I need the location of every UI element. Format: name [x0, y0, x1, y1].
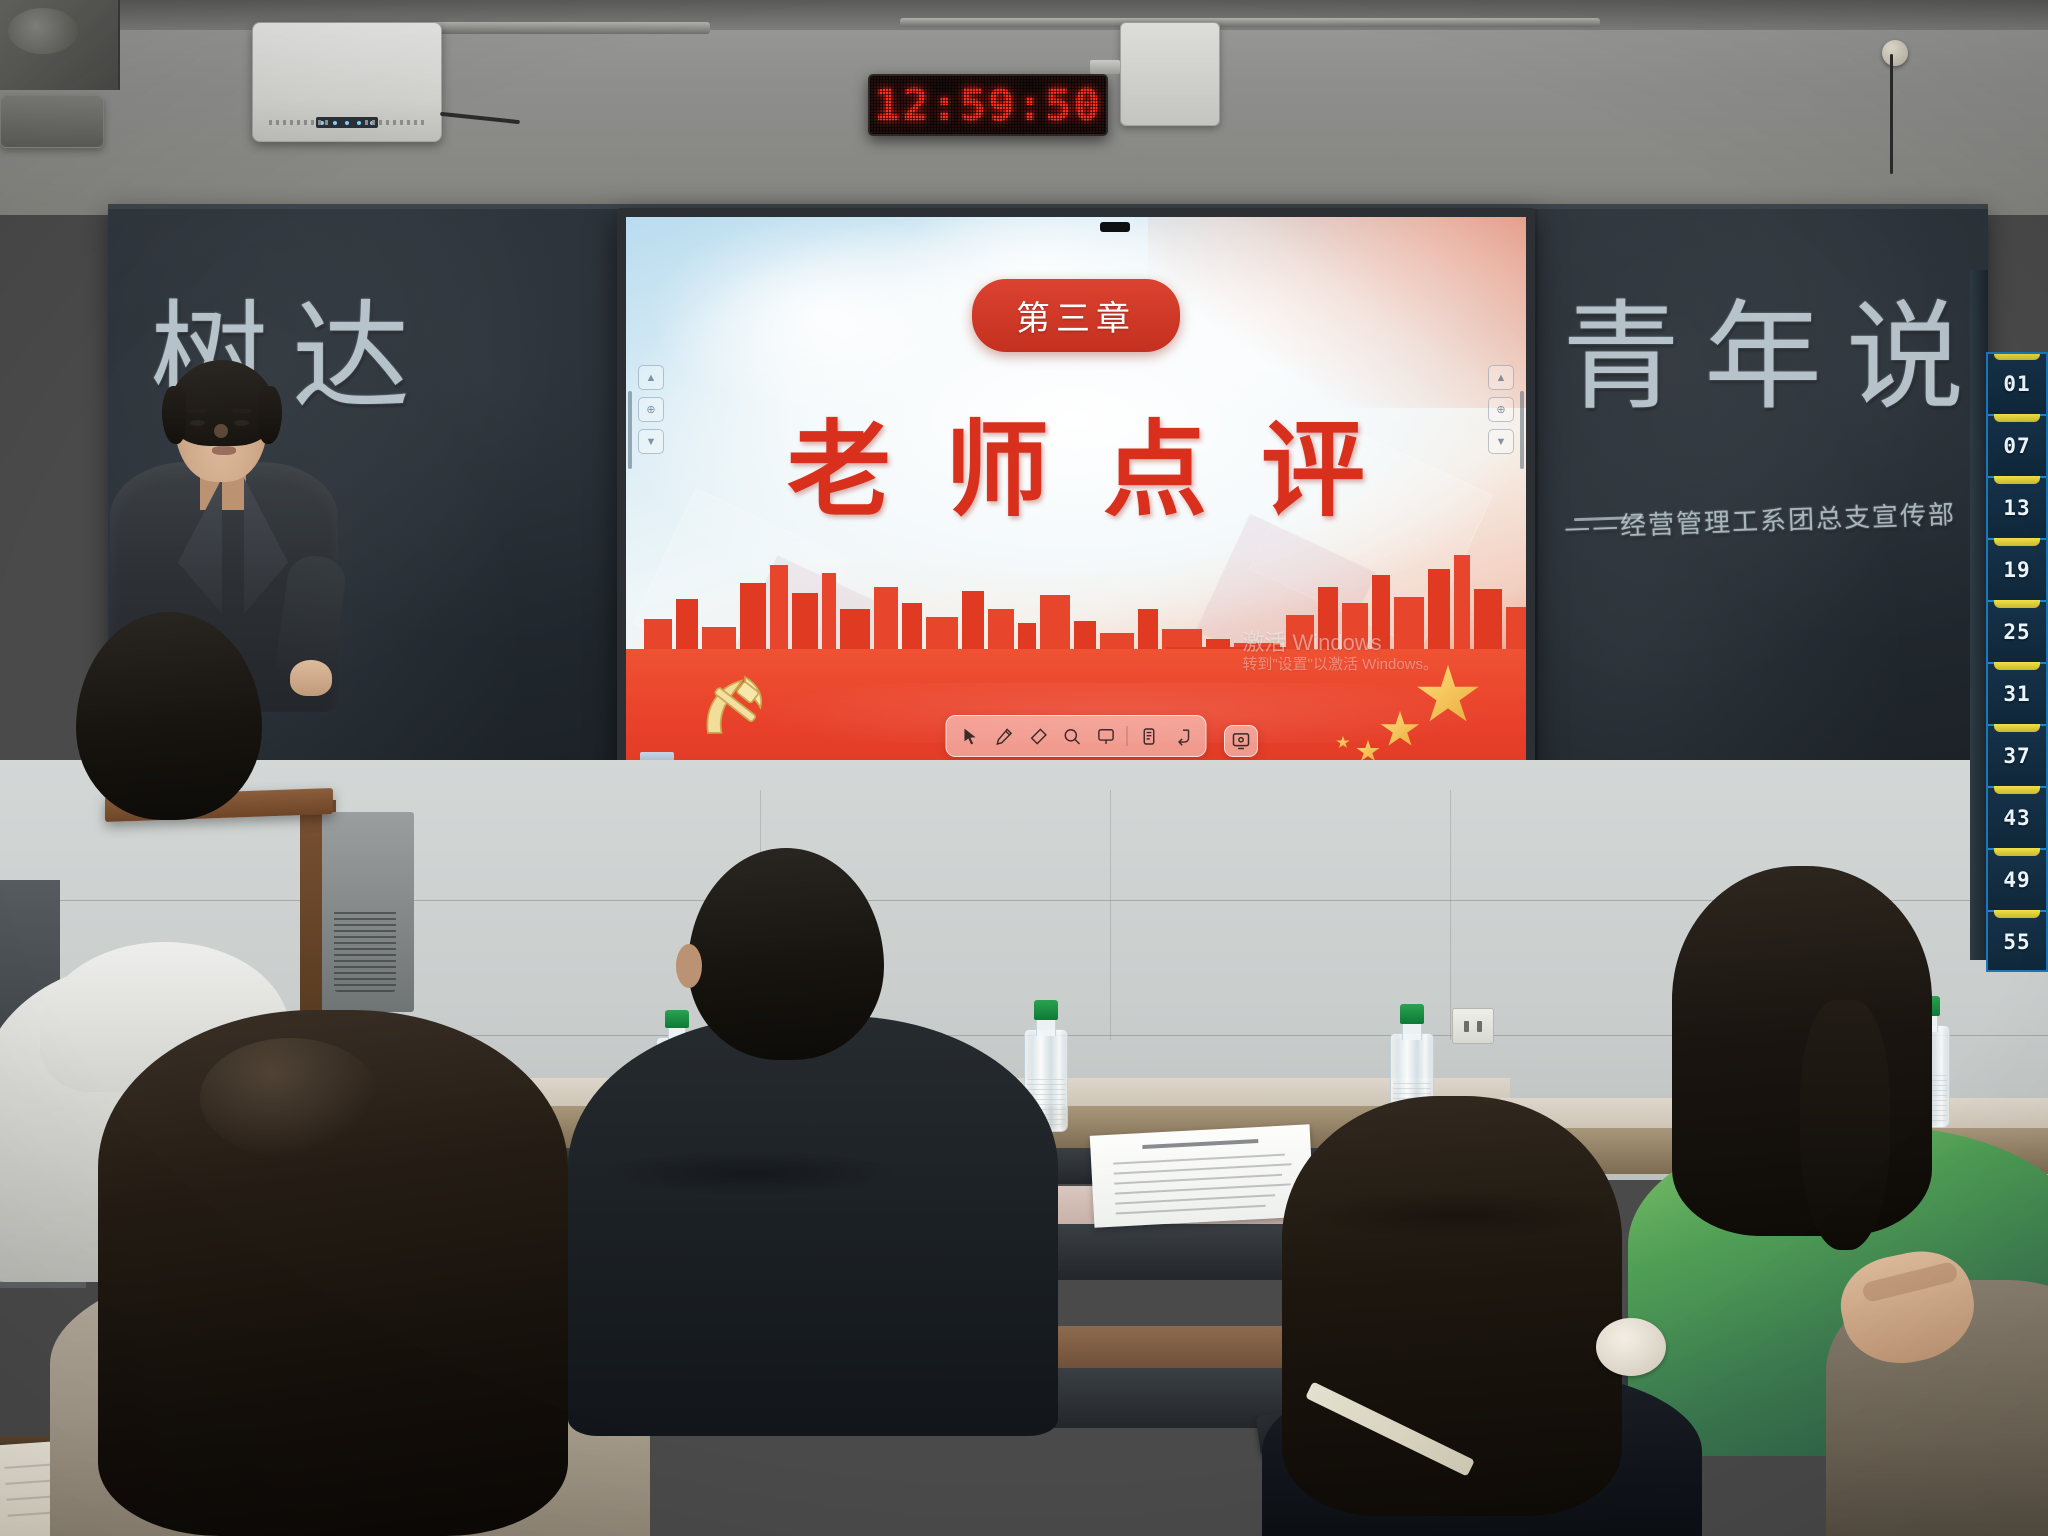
pocket-chart-cell[interactable]: 31 — [1988, 664, 2046, 724]
pocket-chart-cell[interactable]: 43 — [1988, 788, 2046, 848]
pocket-chart-row: 37 — [1988, 726, 2046, 788]
blackboard-right-text: 青年说 — [1562, 261, 1988, 432]
pocket-chart-row: 01 — [1988, 354, 2046, 416]
ceiling-pipe-right — [900, 18, 1600, 27]
pocket-chart-row: 07 — [1988, 416, 2046, 478]
lectern-body — [322, 812, 414, 1012]
side-up-button-right[interactable]: ▲ — [1488, 365, 1514, 390]
document-on-desk — [1090, 1124, 1315, 1227]
phone-storage-pocket-chart: 01071319253137434955 — [1986, 352, 2048, 972]
pocket-chart-cell[interactable]: 37 — [1988, 726, 2046, 786]
magnifier-icon[interactable] — [1055, 721, 1089, 751]
led-wall-clock: 12:59:50 — [868, 74, 1108, 136]
side-down-button-right[interactable]: ▼ — [1488, 429, 1514, 454]
wall-equipment-box-secondary — [1120, 22, 1220, 126]
blackboard-right-panel: 青年说 ——经营管理工系团总支宣传部 — [1538, 209, 1988, 765]
clock-time-display: 12:59:50 — [874, 80, 1102, 131]
display-settings-button[interactable] — [1224, 725, 1258, 757]
wall-duct — [0, 0, 120, 90]
hair-scrunchie — [1596, 1318, 1666, 1376]
teacher-eye-left — [190, 420, 205, 426]
slide-topright-wash — [1148, 217, 1526, 408]
document-line — [1113, 1154, 1285, 1165]
party-emblem-hammer-sickle — [692, 667, 778, 743]
clock-mount-bracket — [1090, 60, 1120, 74]
wall-panel-small — [0, 96, 104, 148]
pocket-chart-row: 55 — [1988, 912, 2046, 972]
eraser-icon[interactable] — [1021, 721, 1055, 751]
side-up-button-left[interactable]: ▲ — [638, 365, 664, 390]
pocket-chart-row: 19 — [1988, 540, 2046, 602]
equipment-vent-left — [269, 120, 329, 125]
ceiling-cable — [1890, 54, 1893, 174]
pocket-chart-cell[interactable]: 55 — [1988, 912, 2046, 972]
pocket-chart-row: 25 — [1988, 602, 2046, 664]
student-ponytail — [1800, 1000, 1890, 1250]
presentation-slide: 第三章 老师点评 — [626, 217, 1526, 779]
document-line — [1115, 1194, 1275, 1204]
bottle-cap — [665, 1010, 689, 1028]
document-heading — [1142, 1139, 1258, 1149]
toolbar-separator — [1127, 726, 1128, 746]
pocket-chart-cell[interactable]: 01 — [1988, 354, 2046, 414]
document-line — [1116, 1205, 1266, 1215]
teacher-brow-left — [188, 409, 207, 413]
student-hair-highlight — [200, 1038, 380, 1158]
equipment-vent-right — [365, 120, 425, 125]
document-line — [1114, 1163, 1292, 1174]
classroom-scene: 12:59:50 树达 青年说 ——经营管理工系团总支宣传部 第三章 老师点评 — [0, 0, 2048, 1536]
student-ear — [676, 944, 702, 988]
bottle-neck — [1036, 1017, 1055, 1035]
bottle-cap — [1400, 1004, 1425, 1024]
bottle-neck — [1402, 1021, 1421, 1039]
smartboard-camera — [1100, 222, 1130, 232]
side-middle-button-right[interactable]: ⊕ — [1488, 397, 1514, 422]
smartboard-side-controls-right[interactable]: ▲ ⊕ ▼ — [1486, 365, 1516, 454]
spotlight-icon[interactable] — [1089, 721, 1123, 751]
watermark-line2: 转到"设置"以激活 Windows。 — [1242, 656, 1438, 675]
teacher-brow-right — [232, 409, 251, 413]
pen-icon[interactable] — [987, 721, 1021, 751]
side-down-button-left[interactable]: ▼ — [638, 429, 664, 454]
wall-tile-line-3 — [1450, 790, 1451, 1040]
pocket-chart-row: 13 — [1988, 478, 2046, 540]
pocket-chart-row: 43 — [1988, 788, 2046, 850]
pocket-chart-row: 49 — [1988, 850, 2046, 912]
notes-icon[interactable] — [1132, 721, 1166, 751]
chapter-badge: 第三章 — [972, 279, 1180, 352]
pocket-chart-cell[interactable]: 13 — [1988, 478, 2046, 538]
interactive-smartboard[interactable]: 第三章 老师点评 — [617, 208, 1535, 788]
pocket-chart-cell[interactable]: 19 — [1988, 540, 2046, 600]
pocket-chart-cell[interactable]: 07 — [1988, 416, 2046, 476]
pocket-chart-cell[interactable]: 49 — [1988, 850, 2046, 910]
side-middle-button-left[interactable]: ⊕ — [638, 397, 664, 422]
document-line — [1115, 1183, 1291, 1194]
cursor-icon[interactable] — [953, 721, 987, 751]
smartboard-side-controls-left[interactable]: ▲ ⊕ ▼ — [636, 365, 666, 454]
smoke-detector — [1882, 40, 1908, 66]
teacher-eye-right — [234, 420, 249, 426]
watermark-line1: 激活 Windows — [1242, 629, 1438, 657]
document-line — [1114, 1174, 1282, 1185]
presentation-toolbar[interactable] — [946, 715, 1207, 757]
wall-equipment-box-main — [252, 22, 442, 142]
display-icon — [1231, 731, 1251, 751]
wall-power-socket[interactable] — [1452, 1008, 1494, 1044]
student-shoulders — [568, 1016, 1058, 1436]
share-icon[interactable] — [1166, 721, 1200, 751]
student-hair — [1672, 866, 1932, 1236]
pocket-chart-cell[interactable]: 25 — [1988, 602, 2046, 662]
windows-activation-watermark: 激活 Windows 转到"设置"以激活 Windows。 — [1242, 629, 1438, 675]
side-scroll-bar-left[interactable] — [628, 391, 632, 469]
teacher-nose — [214, 424, 228, 438]
side-scroll-bar-right[interactable] — [1520, 391, 1524, 469]
bottle-cap — [1034, 1000, 1059, 1020]
slide-title: 老师点评 — [733, 385, 1419, 536]
teacher-mouth — [212, 446, 236, 455]
pocket-chart-row: 31 — [1988, 664, 2046, 726]
wall-tile-line-2 — [1110, 790, 1111, 1040]
blackboard-right-subtitle: ——经营管理工系团总支宣传部 — [1563, 494, 1956, 545]
teacher-hand — [290, 660, 332, 696]
